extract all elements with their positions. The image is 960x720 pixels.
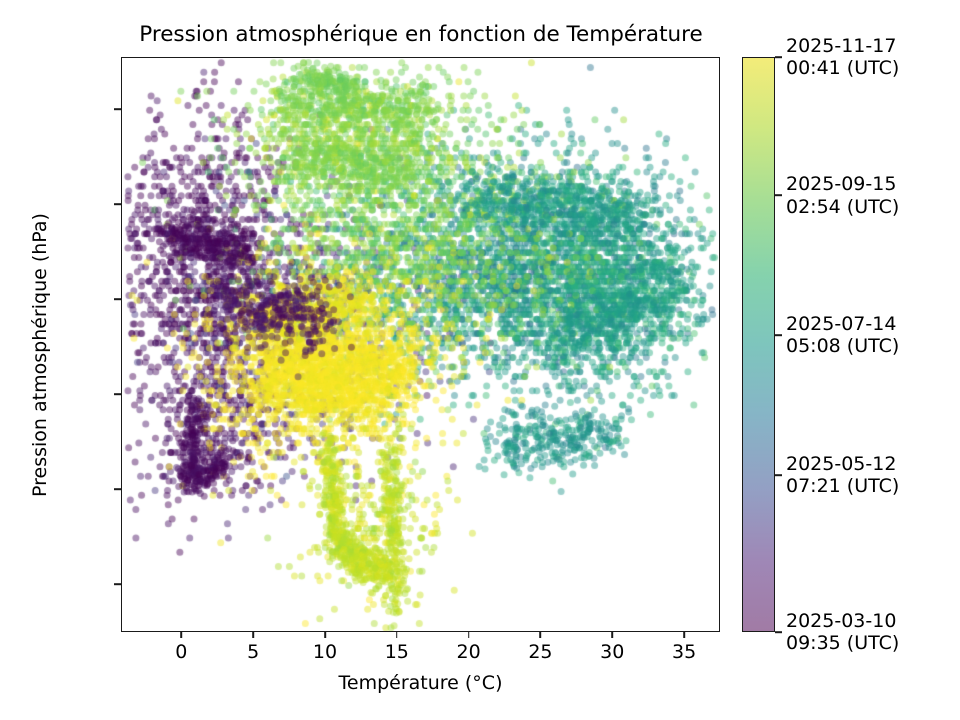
x-tick-label: 5: [247, 641, 259, 663]
x-tick-label: 25: [528, 641, 552, 663]
colorbar-tick-label: 2025-05-12 07:21 (UTC): [786, 453, 899, 497]
x-tick-label: 10: [313, 641, 337, 663]
figure-canvas: Pression atmosphérique en fonction de Te…: [0, 0, 960, 720]
colorbar-gradient: [742, 57, 775, 632]
x-tick-mark: [252, 631, 254, 638]
x-tick-mark: [324, 631, 326, 638]
x-tick-mark: [540, 631, 542, 638]
x-tick-label: 20: [457, 641, 481, 663]
x-tick-label: 15: [385, 641, 409, 663]
x-tick-mark: [468, 631, 470, 638]
page-title: Pression atmosphérique en fonction de Te…: [121, 22, 721, 47]
x-tick-mark: [181, 631, 183, 638]
colorbar-tick-label: 2025-07-14 05:08 (UTC): [786, 313, 899, 357]
x-tick-mark: [683, 631, 685, 638]
x-tick-label: 35: [672, 641, 696, 663]
colorbar: 2025-11-17 00:41 (UTC)2025-09-15 02:54 (…: [742, 57, 775, 632]
y-axis-ticks: 9809901000101010201030: [0, 0, 121, 720]
plot-area: [121, 57, 720, 632]
colorbar-tick-mark: [775, 474, 782, 476]
y-tick-mark: [114, 584, 121, 586]
colorbar-tick-mark: [775, 56, 782, 58]
y-tick-mark: [114, 299, 121, 301]
x-axis-label: Température (°C): [121, 672, 720, 694]
y-tick-mark: [114, 204, 121, 206]
y-axis-label: Pression atmosphérique (hPa): [29, 175, 51, 535]
x-tick-label: 30: [600, 641, 624, 663]
y-tick-mark: [114, 394, 121, 396]
y-tick-mark: [114, 108, 121, 110]
colorbar-tick-mark: [775, 194, 782, 196]
x-tick-mark: [611, 631, 613, 638]
x-tick-mark: [396, 631, 398, 638]
colorbar-tick-label: 2025-11-17 00:41 (UTC): [786, 35, 899, 79]
colorbar-tick-label: 2025-03-10 09:35 (UTC): [786, 610, 899, 654]
colorbar-tick-label: 2025-09-15 02:54 (UTC): [786, 173, 899, 217]
colorbar-tick-mark: [775, 631, 782, 633]
colorbar-tick-mark: [775, 334, 782, 336]
x-tick-label: 0: [175, 641, 187, 663]
scatter-plot-canvas: [122, 58, 720, 632]
y-tick-mark: [114, 489, 121, 491]
